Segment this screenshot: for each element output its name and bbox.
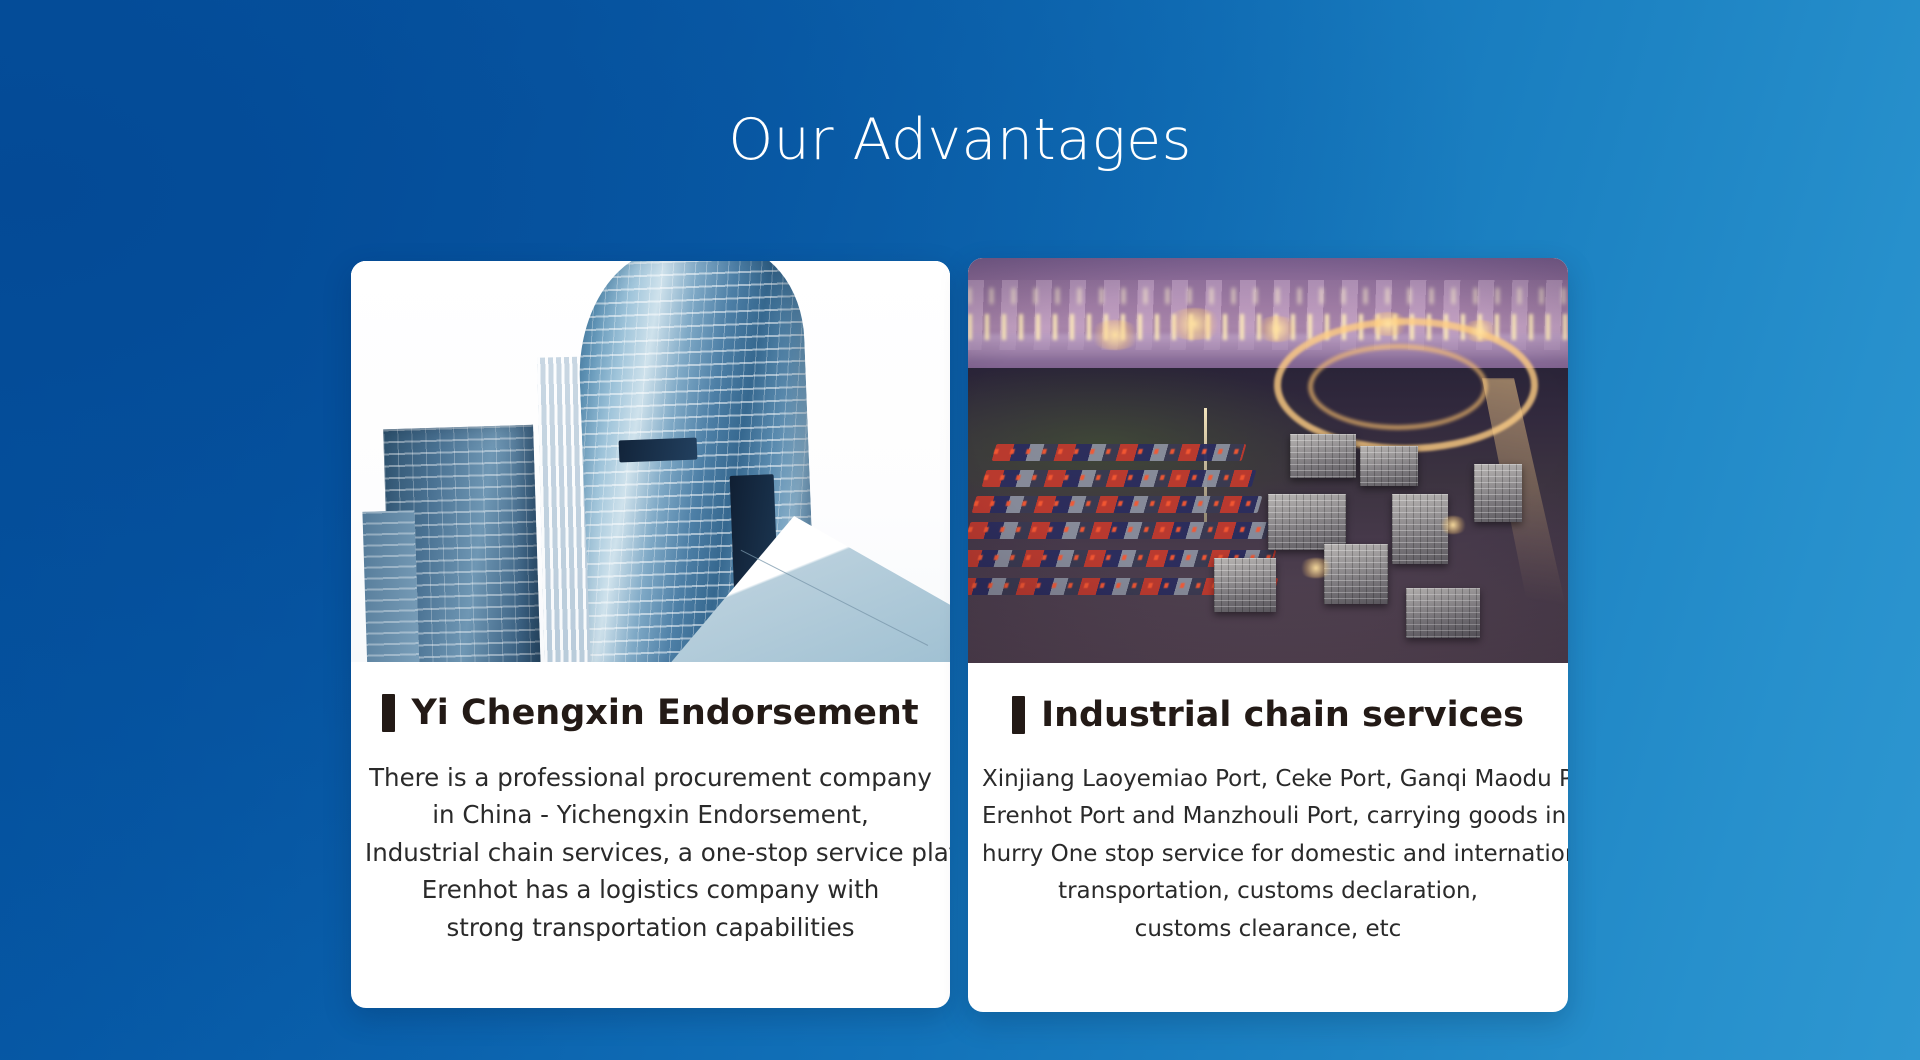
card-body: Yi Chengxin Endorsement There is a profe… (351, 694, 950, 946)
page-title: Our Advantages (0, 110, 1920, 170)
description-line: transportation, customs declaration, (982, 873, 1554, 911)
card-title: Yi Chengxin Endorsement (365, 694, 936, 733)
description-line: Xinjiang Laoyemiao Port, Ceke Port, Ganq… (982, 761, 1554, 799)
card-body: Industrial chain services Xinjiang Laoye… (968, 696, 1568, 948)
aerial-night-port-photo (968, 258, 1568, 663)
card-title: Industrial chain services (982, 696, 1554, 735)
advantage-card-yi-chengxin-endorsement[interactable]: Yi Chengxin Endorsement There is a profe… (351, 261, 950, 1008)
description-line: in China - Yichengxin Endorsement, (365, 796, 936, 834)
card-title-text: Yi Chengxin Endorsement (411, 694, 918, 733)
description-line: hurry One stop service for domestic and … (982, 836, 1554, 874)
description-line: strong transportation capabilities (365, 909, 936, 947)
description-line: customs clearance, etc (982, 911, 1554, 949)
card-description: There is a professional procurement comp… (365, 759, 936, 947)
card-description: Xinjiang Laoyemiao Port, Ceke Port, Ganq… (982, 761, 1554, 949)
title-bar-marker-icon (382, 694, 395, 732)
advantages-section: Our Advantages Yi Chengxin Endorsement (0, 0, 1920, 1060)
card-title-text: Industrial chain services (1041, 696, 1524, 735)
glass-office-towers-photo (351, 261, 950, 662)
description-line: Erenhot Port and Manzhouli Port, carryin… (982, 798, 1554, 836)
card-image-glass-office-towers (351, 261, 950, 662)
left-low-tower-shape (362, 510, 419, 662)
tower-dark-band-upper (619, 438, 698, 463)
description-line: There is a professional procurement comp… (365, 759, 936, 797)
card-image-aerial-night-port (968, 258, 1568, 663)
description-line: Industrial chain services, a one-stop se… (365, 834, 936, 872)
title-bar-marker-icon (1012, 696, 1025, 734)
advantage-card-industrial-chain-services[interactable]: Industrial chain services Xinjiang Laoye… (968, 258, 1568, 1012)
photo-vignette (968, 258, 1568, 663)
description-line: Erenhot has a logistics company with (365, 871, 936, 909)
